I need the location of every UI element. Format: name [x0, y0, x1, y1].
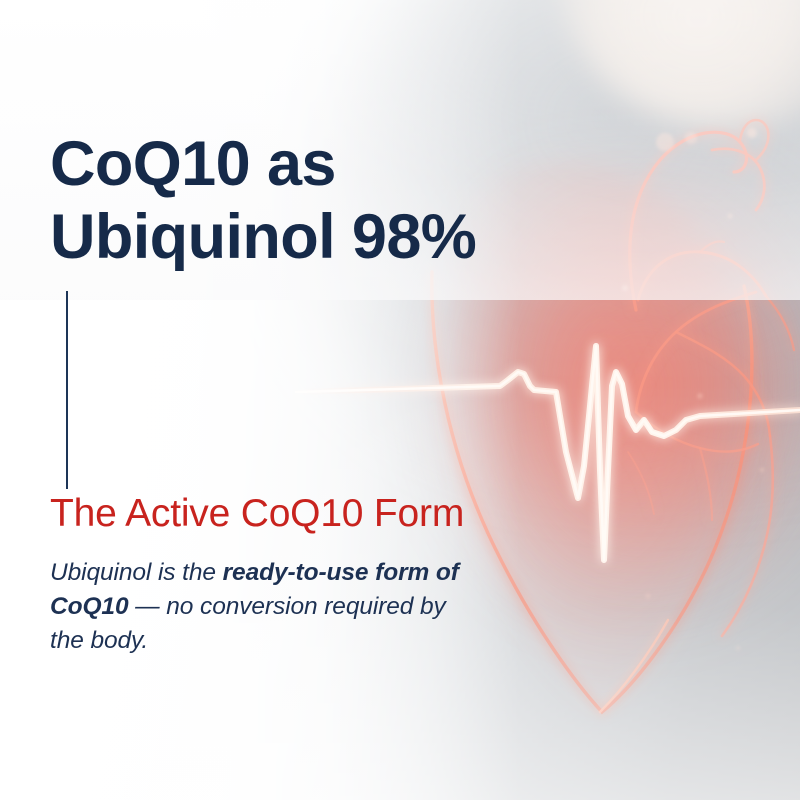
body-copy-line-1: Ubiquinol is the ready-to-use form of [50, 556, 560, 590]
headline-line-1: CoQ10 as [50, 128, 610, 201]
body-copy-line-2: CoQ10 — no conversion required by [50, 590, 560, 624]
page-title: CoQ10 as Ubiquinol 98% [50, 128, 610, 274]
body-copy-line-3: the body. [50, 624, 560, 658]
hero-content: CoQ10 as Ubiquinol 98% The Active CoQ10 … [0, 0, 800, 800]
hero-banner: CoQ10 as Ubiquinol 98% The Active CoQ10 … [0, 0, 800, 800]
body-line2-bold: CoQ10 [50, 593, 128, 620]
body-line3-regular: the body. [50, 627, 148, 654]
subheading: The Active CoQ10 Form [50, 493, 464, 536]
body-line1-bold: ready-to-use form of [223, 559, 459, 586]
body-copy: Ubiquinol is the ready-to-use form of Co… [50, 556, 560, 657]
vertical-accent-rule [66, 291, 68, 489]
headline-line-2: Ubiquinol 98% [50, 201, 610, 274]
body-line2-regular: — no conversion required by [128, 593, 445, 620]
body-line1-regular: Ubiquinol is the [50, 559, 223, 586]
